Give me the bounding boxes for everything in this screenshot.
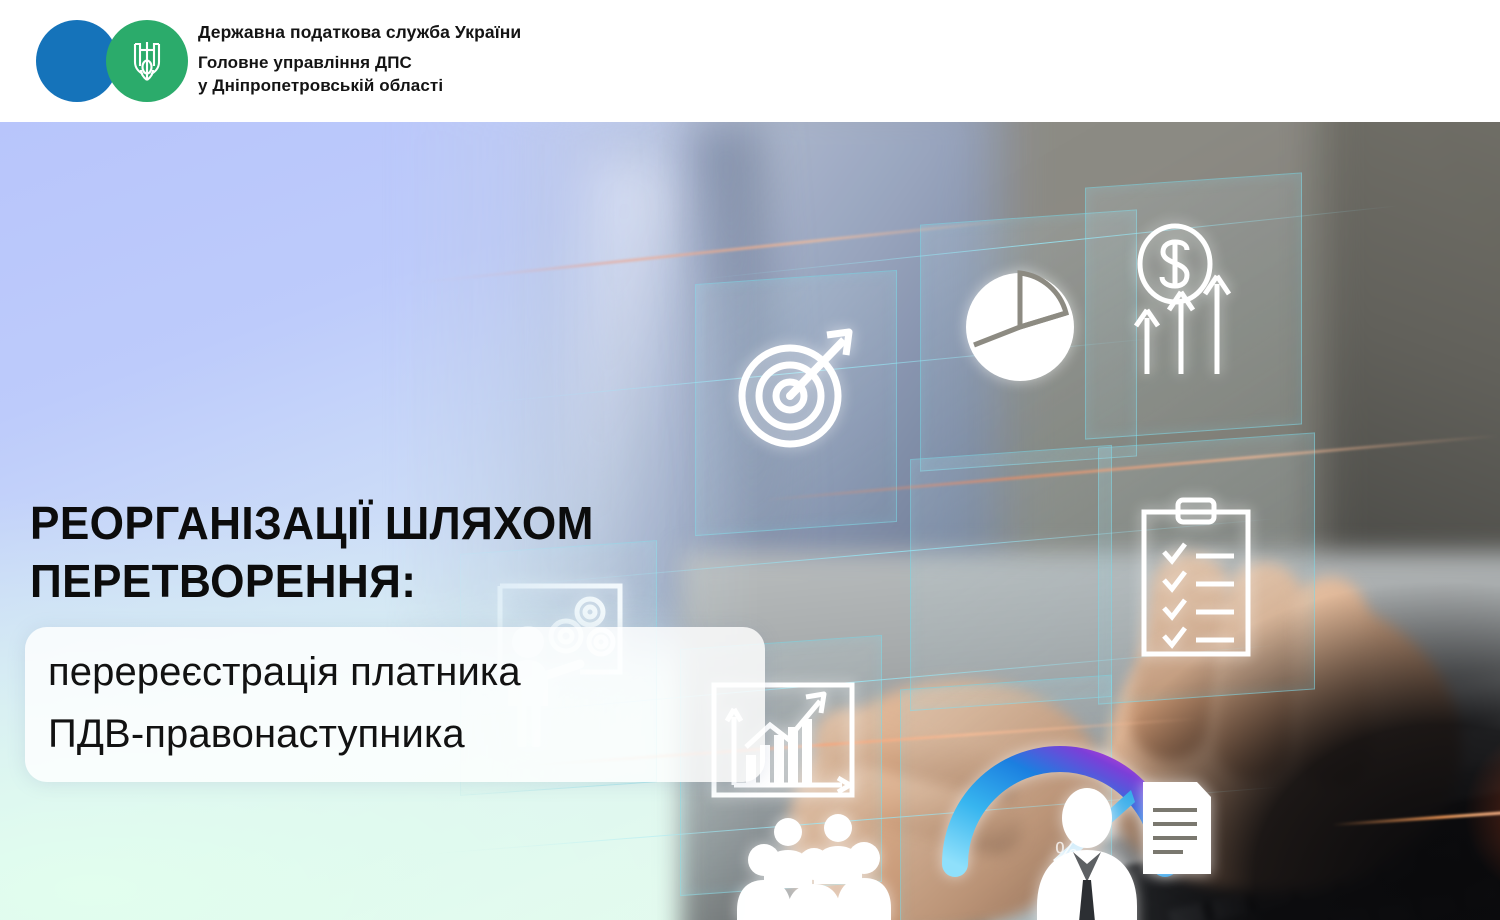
headline-line-1: РЕОРГАНІЗАЦІЇ ШЛЯХОМ — [30, 494, 760, 552]
dps-logo[interactable] — [36, 20, 194, 102]
people-group-icon — [730, 802, 900, 920]
poster-root: Державна податкова служба України Головн… — [0, 0, 1500, 920]
subtitle-line-1: перереєстрація платника — [48, 641, 768, 703]
clipboard-checklist-icon — [1130, 494, 1270, 669]
department-line-1: Головне управління ДПС — [198, 51, 718, 74]
dollar-arrows-up-icon — [1125, 222, 1275, 392]
subtitle-block: перереєстрація платника ПДВ-правонаступн… — [48, 641, 768, 765]
ukraine-trident-icon — [106, 20, 188, 102]
headline-line-2: ПЕРЕТВОРЕННЯ: — [30, 552, 760, 610]
lens-flare-burst — [1452, 712, 1500, 912]
org-name: Державна податкова служба України — [198, 20, 718, 44]
poster-canvas: % — [0, 122, 1500, 920]
headline-block: РЕОРГАНІЗАЦІЇ ШЛЯХОМ ПЕРЕТВОРЕННЯ: — [30, 494, 790, 610]
department-line-2: у Дніпропетровській області — [198, 74, 718, 97]
site-header: Державна податкова служба України Головн… — [0, 0, 1500, 122]
subtitle-line-2: ПДВ-правонаступника — [48, 703, 768, 765]
target-arrow-icon — [732, 322, 862, 452]
pie-chart-icon — [960, 267, 1080, 387]
businessman-document-icon — [1025, 772, 1225, 920]
org-titles: Державна податкова служба України Головн… — [198, 20, 718, 97]
